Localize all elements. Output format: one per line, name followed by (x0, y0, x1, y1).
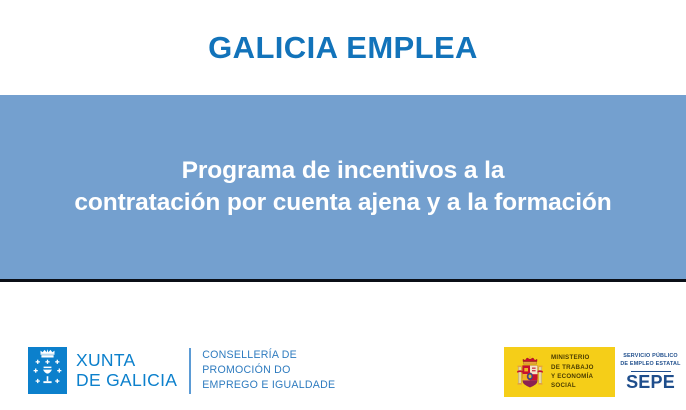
program-banner-line-1: Programa de incentivos a la (0, 155, 686, 187)
page-title: GALICIA EMPLEA (208, 32, 478, 63)
xunta-wordmark: XUNTA DE GALICIA (76, 351, 177, 390)
ministerio-line-2: DE TRABAJO (551, 363, 615, 372)
xunta-coat-of-arms-icon (28, 347, 67, 394)
sepe-subtitle: SERVICIO PÚBLICO DE EMPLEO ESTATAL (620, 353, 680, 369)
xunta-wordmark-line-2: DE GALICIA (76, 371, 177, 391)
consellaria-line-2: PROMOCIÓN DO (202, 363, 335, 378)
title-band: GALICIA EMPLEA (0, 0, 686, 95)
xunta-wordmark-line-1: XUNTA (76, 351, 177, 371)
consellaria-name: CONSELLERÍA DE PROMOCIÓN DO EMPREGO E IG… (202, 348, 335, 393)
program-banner-line-2: contratación por cuenta ajena y a la for… (0, 187, 686, 219)
consellaria-line-3: EMPREGO E IGUALDADE (202, 378, 335, 393)
ministerio-wordmark: MINISTERIO DE TRABAJO Y ECONOMÍA SOCIAL (551, 353, 615, 391)
program-banner-text: Programa de incentivos a la contratación… (0, 155, 686, 220)
spain-coat-of-arms-icon (516, 354, 544, 390)
ministerio-line-3: Y ECONOMÍA SOCIAL (551, 372, 615, 391)
sepe-subtitle-line-1: SERVICIO PÚBLICO (620, 353, 680, 361)
sepe-subtitle-line-2: DE EMPLEO ESTATAL (620, 361, 680, 369)
sepe-acronym: SEPE (626, 373, 675, 391)
xunta-de-galicia-logo: XUNTA DE GALICIA CONSELLERÍA DE PROMOCIÓ… (28, 347, 335, 394)
consellaria-line-1: CONSELLERÍA DE (202, 348, 335, 363)
logo-divider (189, 348, 191, 394)
footer-logo-bar: XUNTA DE GALICIA CONSELLERÍA DE PROMOCIÓ… (0, 282, 686, 410)
program-banner: Programa de incentivos a la contratación… (0, 95, 686, 279)
ministerio-line-1: MINISTERIO (551, 353, 615, 362)
ministerio-de-trabajo-logo: MINISTERIO DE TRABAJO Y ECONOMÍA SOCIAL (504, 347, 615, 397)
sepe-logo: SERVICIO PÚBLICO DE EMPLEO ESTATAL SEPE (615, 347, 686, 397)
